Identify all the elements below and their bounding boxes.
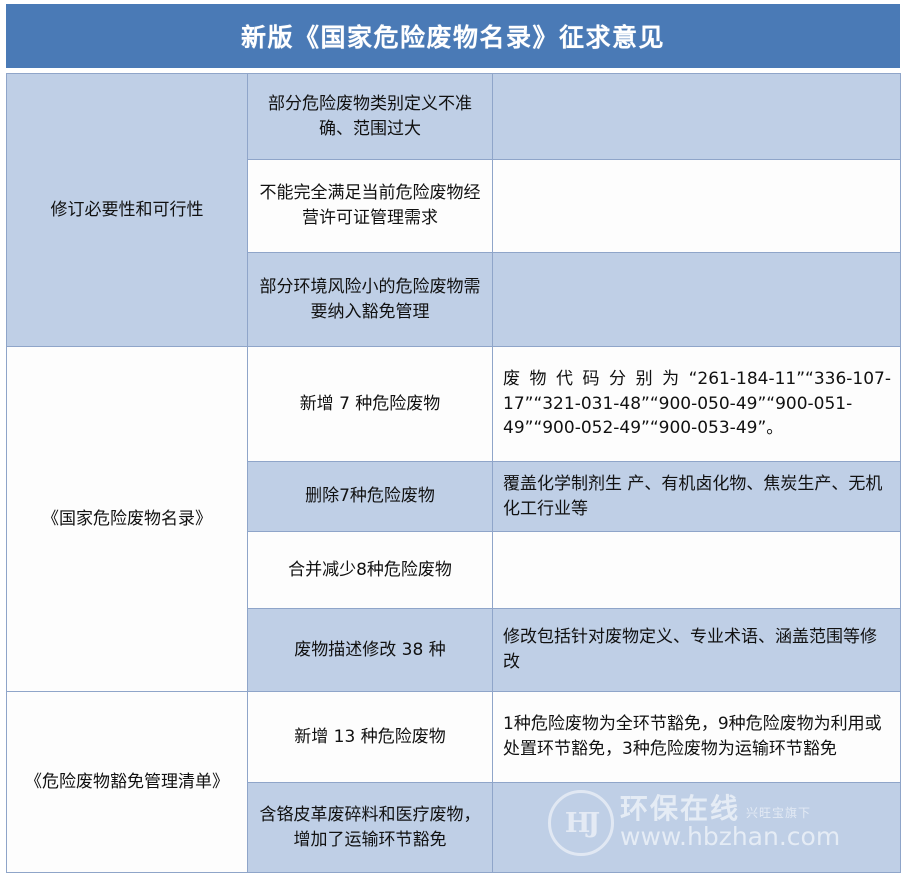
group-0-detail-2 — [493, 253, 901, 347]
group-2-detail-1 — [493, 783, 901, 873]
group-2-item-1: 含铬皮革废碎料和医疗废物，增加了运输环节豁免 — [248, 783, 493, 873]
page-title: 新版《国家危险废物名录》征求意见 — [241, 18, 665, 54]
group-0-item-1: 不能完全满足当前危险废物经营许可证管理需求 — [248, 160, 493, 253]
group-1-detail-3: 修改包括针对废物定义、专业术语、涵盖范围等修改 — [493, 609, 901, 692]
group-label-0: 修订必要性和可行性 — [7, 74, 248, 347]
group-1-item-1: 删除7种危险废物 — [248, 462, 493, 532]
table-row: 修订必要性和可行性 部分危险废物类别定义不准确、范围过大 — [7, 74, 901, 160]
group-1-item-2: 合并减少8种危险废物 — [248, 532, 493, 609]
table-row: 《危险废物豁免管理清单》 新增 13 种危险废物 1种危险废物为全环节豁免，9种… — [7, 692, 901, 783]
group-0-item-0: 部分危险废物类别定义不准确、范围过大 — [248, 74, 493, 160]
group-0-detail-0 — [493, 74, 901, 160]
group-1-detail-1: 覆盖化学制剂生 产、有机卤化物、焦炭生产、无机化工行业等 — [493, 462, 901, 532]
group-1-item-0: 新增 7 种危险废物 — [248, 347, 493, 462]
group-0-item-2: 部分环境风险小的危险废物需要纳入豁免管理 — [248, 253, 493, 347]
group-1-detail-0: 废物代码分别为“261-184-11”“336-107-17”“321-031-… — [493, 347, 901, 462]
group-2-detail-0: 1种危险废物为全环节豁免，9种危险废物为利用或处置环节豁免，3种危险废物为运输环… — [493, 692, 901, 783]
table-row: 《国家危险废物名录》 新增 7 种危险废物 废物代码分别为“261-184-11… — [7, 347, 901, 462]
group-label-2: 《危险废物豁免管理清单》 — [7, 692, 248, 873]
group-1-detail-2 — [493, 532, 901, 609]
header-bar: 新版《国家危险废物名录》征求意见 — [6, 4, 900, 68]
revision-summary-table: 修订必要性和可行性 部分危险废物类别定义不准确、范围过大 不能完全满足当前危险废… — [6, 73, 901, 873]
page-root: 新版《国家危险废物名录》征求意见 修订必要性和可行性 部分危险废物类别定义不准确… — [0, 0, 908, 874]
group-1-item-3: 废物描述修改 38 种 — [248, 609, 493, 692]
group-label-1: 《国家危险废物名录》 — [7, 347, 248, 692]
group-0-detail-1 — [493, 160, 901, 253]
group-2-item-0: 新增 13 种危险废物 — [248, 692, 493, 783]
